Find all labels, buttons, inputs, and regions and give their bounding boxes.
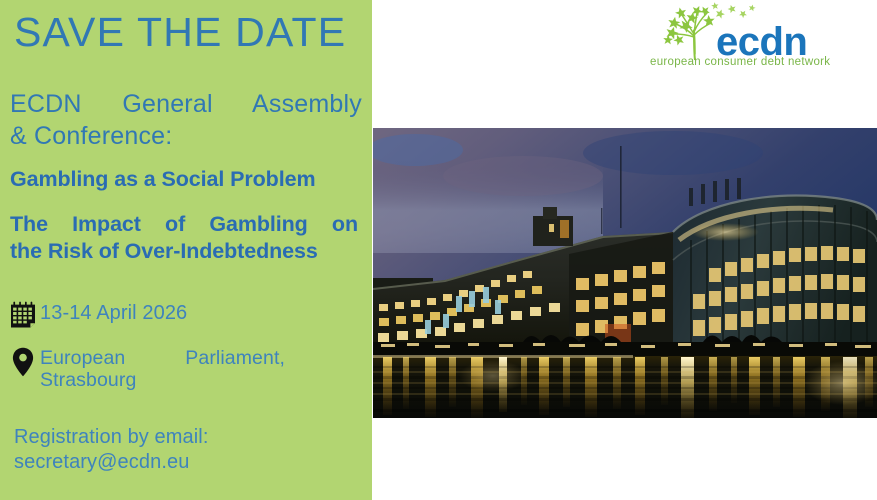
event-date-text: 13-14 April 2026 bbox=[40, 297, 187, 324]
event-date-row: 13-14 April 2026 bbox=[6, 297, 187, 331]
map-pin-icon bbox=[6, 345, 40, 379]
save-the-date-title: SAVE THE DATE bbox=[14, 8, 364, 56]
event-location-line2: Strasbourg bbox=[40, 369, 290, 391]
conference-headline-secondary-line1: The Impact of Gambling on bbox=[10, 211, 358, 238]
registration-email[interactable]: secretary@ecdn.eu bbox=[14, 450, 354, 475]
calendar-icon bbox=[6, 297, 40, 331]
svg-text:european consumer debt networ: european consumer debt network bbox=[650, 56, 830, 68]
ecdn-logo: ecdn european consumer debt network bbox=[648, 2, 844, 68]
event-location-row: European Parliament, Strasbourg bbox=[6, 345, 290, 391]
event-location-line1: European Parliament, bbox=[40, 347, 285, 369]
registration-label: Registration by email: bbox=[14, 425, 354, 450]
conference-headline-primary: Gambling as a Social Problem bbox=[10, 166, 362, 192]
left-green-panel: SAVE THE DATE ECDN General Assembly & Co… bbox=[0, 0, 372, 500]
event-location-text: European Parliament, Strasbourg bbox=[40, 345, 290, 391]
poster-canvas: SAVE THE DATE ECDN General Assembly & Co… bbox=[0, 0, 877, 500]
european-parliament-photo bbox=[373, 128, 877, 418]
registration-info: Registration by email: secretary@ecdn.eu bbox=[14, 425, 354, 475]
event-title: ECDN General Assembly & Conference: bbox=[10, 88, 362, 152]
conference-headline-secondary-line2: the Risk of Over-Indebtedness bbox=[10, 238, 362, 265]
event-title-line1: ECDN General Assembly bbox=[10, 88, 362, 120]
conference-headline-secondary: The Impact of Gambling on the Risk of Ov… bbox=[10, 211, 362, 265]
event-title-line2: & Conference: bbox=[10, 120, 362, 152]
